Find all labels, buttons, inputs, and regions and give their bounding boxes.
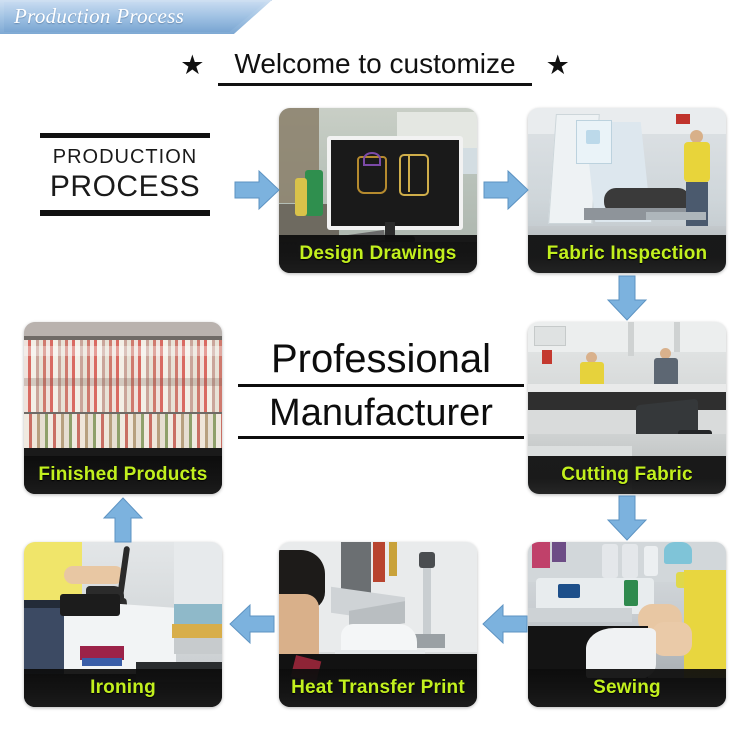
fabric-inspection-caption-bar: Fabric Inspection: [528, 235, 726, 273]
arrow-process-to-design: [233, 166, 281, 214]
heading-line-process: PROCESS: [40, 170, 210, 210]
design-drawings-caption-bar: Design Drawings: [279, 235, 477, 273]
star-icon-left: ★: [180, 52, 204, 79]
step-card-fabric-inspection[interactable]: Fabric Inspection: [528, 108, 726, 273]
professional-manufacturer-slogan: Professional Manufacturer: [238, 337, 524, 439]
sewing-label: Sewing: [593, 677, 661, 699]
star-icon-right: ★: [546, 52, 570, 79]
step-card-sewing[interactable]: Sewing: [528, 542, 726, 707]
cutting-fabric-label: Cutting Fabric: [561, 464, 693, 486]
finished-products-caption-bar: Finished Products: [24, 456, 222, 494]
step-card-heat-transfer-print[interactable]: Heat Transfer Print: [279, 542, 477, 707]
step-card-design-drawings[interactable]: Design Drawings: [279, 108, 477, 273]
step-card-cutting-fabric[interactable]: Cutting Fabric: [528, 322, 726, 494]
heat-transfer-print-caption-bar: Heat Transfer Print: [279, 669, 477, 707]
sewing-caption-bar: Sewing: [528, 669, 726, 707]
slogan-line-manufacturer: Manufacturer: [238, 392, 524, 440]
arrow-heat-transfer-to-ironing: [228, 600, 276, 648]
slogan-line-professional: Professional: [238, 337, 524, 387]
arrow-cutting-to-sewing: [603, 494, 651, 542]
welcome-row: ★ Welcome to customize ★: [0, 44, 750, 90]
step-card-finished-products[interactable]: Finished Products: [24, 322, 222, 494]
production-process-heading: PRODUCTION PROCESS: [40, 133, 210, 216]
ironing-label: Ironing: [90, 677, 156, 699]
arrow-design-to-inspection: [482, 166, 530, 214]
arrow-inspection-to-cutting: [603, 274, 651, 322]
tab-title: Production Process: [14, 4, 184, 29]
heading-line-production: PRODUCTION: [40, 138, 210, 170]
finished-products-label: Finished Products: [38, 464, 207, 486]
heading-rule-bottom: [40, 210, 210, 216]
fabric-inspection-label: Fabric Inspection: [547, 243, 708, 265]
cutting-fabric-caption-bar: Cutting Fabric: [528, 456, 726, 494]
arrow-sewing-to-heat-transfer: [481, 600, 529, 648]
design-drawings-label: Design Drawings: [299, 243, 456, 265]
heat-transfer-print-label: Heat Transfer Print: [291, 677, 465, 699]
step-card-ironing[interactable]: Ironing: [24, 542, 222, 707]
ironing-caption-bar: Ironing: [24, 669, 222, 707]
welcome-headline: Welcome to customize: [218, 48, 531, 86]
arrow-ironing-to-finished: [99, 496, 147, 544]
header-bar: Production Process: [0, 0, 750, 34]
